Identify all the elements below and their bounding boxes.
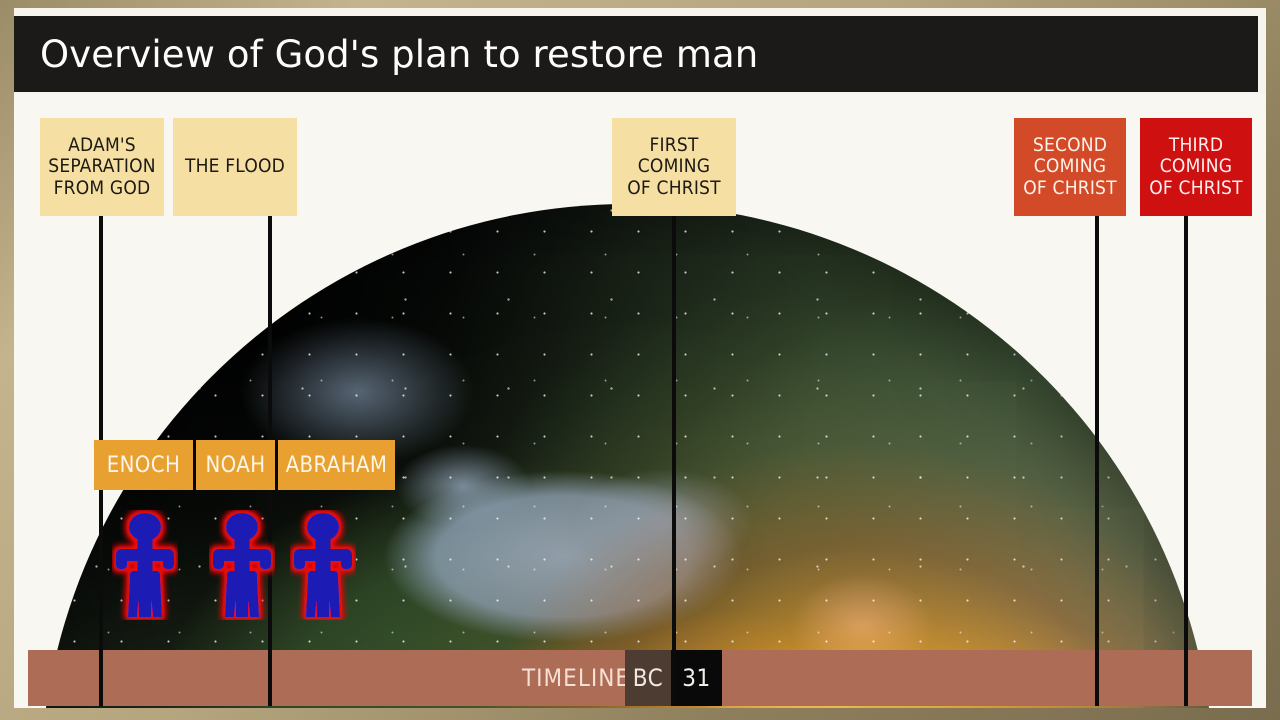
event-box-line: SEPARATION [48,156,155,178]
person-box-label: NOAH [205,453,265,478]
event-box-adams-separation[interactable]: ADAM'SSEPARATIONFROM GOD [40,118,164,216]
timeline-bar: TIMELINE BC 31 [28,650,1252,706]
timeline-chip-bc: BC [625,650,671,706]
event-box-second-coming[interactable]: SECONDCOMINGOF CHRIST [1014,118,1126,216]
event-box-line: OF CHRIST [1023,178,1117,200]
person-box-abraham[interactable]: ABRAHAM [278,440,395,490]
person-box-label: ENOCH [107,453,181,478]
person-box-enoch[interactable]: ENOCH [94,440,193,490]
stick-figure-enoch [112,510,178,620]
person-figure-abraham [290,510,356,625]
event-box-line: OF CHRIST [627,178,721,200]
person-box-noah[interactable]: NOAH [196,440,275,490]
page-title: Overview of God's plan to restore man [14,33,758,76]
slide-title-bar: Overview of God's plan to restore man [14,16,1258,92]
stick-figure-noah [209,510,275,620]
event-line-first-coming [672,216,676,706]
event-box-line: THIRD [1169,135,1223,157]
person-figure-noah [209,510,275,625]
event-box-line: COMING [638,156,710,178]
timeline-chip-year: 31 [671,650,722,706]
event-box-line: COMING [1034,156,1106,178]
event-box-line: FROM GOD [54,178,151,200]
event-box-line: FIRST [649,135,698,157]
stick-figure-abraham [290,510,356,620]
event-box-line: SECOND [1033,135,1107,157]
event-box-first-coming[interactable]: FIRSTCOMINGOF CHRIST [612,118,736,216]
slide-content-area: TIMELINE BC 31 ADAM'SSEPARATIONFROM GODT… [14,94,1266,708]
event-box-line: THE FLOOD [185,156,285,178]
event-box-third-coming[interactable]: THIRDCOMINGOF CHRIST [1140,118,1252,216]
person-box-label: ABRAHAM [286,453,388,478]
person-figure-enoch [112,510,178,625]
event-line-third-coming [1184,216,1188,706]
event-box-line: COMING [1160,156,1232,178]
slide: Overview of God's plan to restore man TI… [14,8,1266,708]
event-box-line: ADAM'S [68,135,136,157]
event-box-line: OF CHRIST [1149,178,1243,200]
event-line-second-coming [1095,216,1099,706]
event-box-the-flood[interactable]: THE FLOOD [173,118,297,216]
timeline-label: TIMELINE [522,664,630,692]
